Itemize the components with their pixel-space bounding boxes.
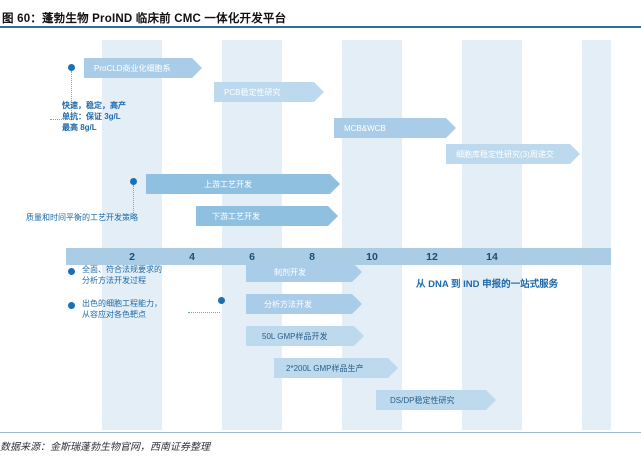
bar-label: MCB&WCB bbox=[334, 124, 386, 133]
bar-arrowhead bbox=[388, 358, 398, 378]
bar-label: 下游工艺开发 bbox=[196, 211, 260, 222]
slogan-text: 从 DNA 到 IND 申报的一站式服务 bbox=[416, 276, 558, 290]
bar-arrowhead bbox=[314, 82, 324, 102]
figure-page: 图 60：蓬勃生物 ProIND 临床前 CMC 一体化开发平台 2 4 6 8… bbox=[0, 0, 641, 464]
axis-tick-5: 10 bbox=[360, 251, 384, 263]
bar-label: 50L GMP样品开发 bbox=[246, 331, 328, 342]
bar-label: 制剂开发 bbox=[246, 267, 306, 278]
bar-label: ProCLD商业化细胞系 bbox=[84, 63, 170, 74]
task-bar-cellbank-stability: 细胞库稳定性研究(3)周递交 bbox=[446, 144, 580, 164]
axis-tick-7: 14 bbox=[480, 251, 504, 263]
bar-arrowhead bbox=[192, 58, 202, 78]
note-quality: 质量和时间平衡的工艺开发策略 bbox=[26, 212, 156, 223]
task-bar-mcb-wcb: MCB&WCB bbox=[334, 118, 456, 138]
bar-arrowhead bbox=[352, 262, 362, 282]
bar-label: 细胞库稳定性研究(3)周递交 bbox=[446, 149, 554, 160]
bullet-upstream bbox=[130, 178, 137, 185]
task-bar-50l-gmp: 50L GMP样品开发 bbox=[246, 326, 364, 346]
task-bar-formulation: 制剂开发 bbox=[246, 262, 362, 282]
background-band bbox=[102, 40, 162, 430]
task-bar-200l-gmp: 2*200L GMP样品生产 bbox=[274, 358, 398, 378]
bar-arrowhead bbox=[330, 174, 340, 194]
bar-arrowhead bbox=[446, 118, 456, 138]
task-bar-analytical-method: 分析方法开发 bbox=[246, 294, 362, 314]
axis-tick-6: 12 bbox=[420, 251, 444, 263]
bar-arrowhead bbox=[352, 294, 362, 314]
task-bar-downstream-process: 下游工艺开发 bbox=[196, 206, 338, 226]
bar-label: PCB稳定性研究 bbox=[214, 87, 280, 98]
bullet-procld bbox=[68, 64, 75, 71]
bar-arrowhead bbox=[486, 390, 496, 410]
task-bar-upstream-process: 上游工艺开发 bbox=[146, 174, 340, 194]
background-band bbox=[582, 40, 611, 430]
axis-tick-2: 4 bbox=[180, 251, 204, 263]
page-title: 图 60：蓬勃生物 ProIND 临床前 CMC 一体化开发平台 bbox=[2, 10, 286, 26]
bar-label: DS/DP稳定性研究 bbox=[376, 395, 454, 406]
figure-title-bar: 图 60：蓬勃生物 ProIND 临床前 CMC 一体化开发平台 bbox=[0, 8, 641, 32]
bullet-analysis bbox=[68, 268, 75, 275]
source-note: 数据来源：金斯瑞蓬勃生物官网，西南证券整理 bbox=[0, 438, 210, 453]
connector-line-upstream bbox=[133, 185, 134, 215]
note-speed: 快速，稳定，高产 单抗：保证 3g/L 最高 8g/L bbox=[62, 100, 182, 133]
bar-arrowhead bbox=[328, 206, 338, 226]
chart-panel: 2 4 6 8 10 12 14 ProCLD商业化细胞系 PCB稳定性研究 M… bbox=[6, 40, 635, 430]
axis-tick-1: 2 bbox=[120, 251, 144, 263]
task-bar-ds-dp-stability: DS/DP稳定性研究 bbox=[376, 390, 496, 410]
bar-arrowhead bbox=[354, 326, 364, 346]
bar-label: 分析方法开发 bbox=[246, 299, 312, 310]
bar-arrowhead bbox=[570, 144, 580, 164]
background-band bbox=[462, 40, 522, 430]
bar-label: 2*200L GMP样品生产 bbox=[274, 363, 364, 374]
note-analysis: 全面、符合法规要求的 分析方法开发过程 bbox=[82, 264, 212, 286]
bar-label: 上游工艺开发 bbox=[146, 179, 252, 190]
footer-divider bbox=[0, 432, 641, 433]
title-divider bbox=[0, 26, 641, 28]
connector-line-analytical bbox=[188, 312, 220, 313]
task-bar-pcb-stability: PCB稳定性研究 bbox=[214, 82, 324, 102]
note-cell: 出色的细胞工程能力， 从容应对各色靶点 bbox=[82, 298, 212, 320]
task-bar-procld: ProCLD商业化细胞系 bbox=[84, 58, 202, 78]
bullet-cell-engineering bbox=[68, 302, 75, 309]
bullet-analytical-method bbox=[218, 297, 225, 304]
